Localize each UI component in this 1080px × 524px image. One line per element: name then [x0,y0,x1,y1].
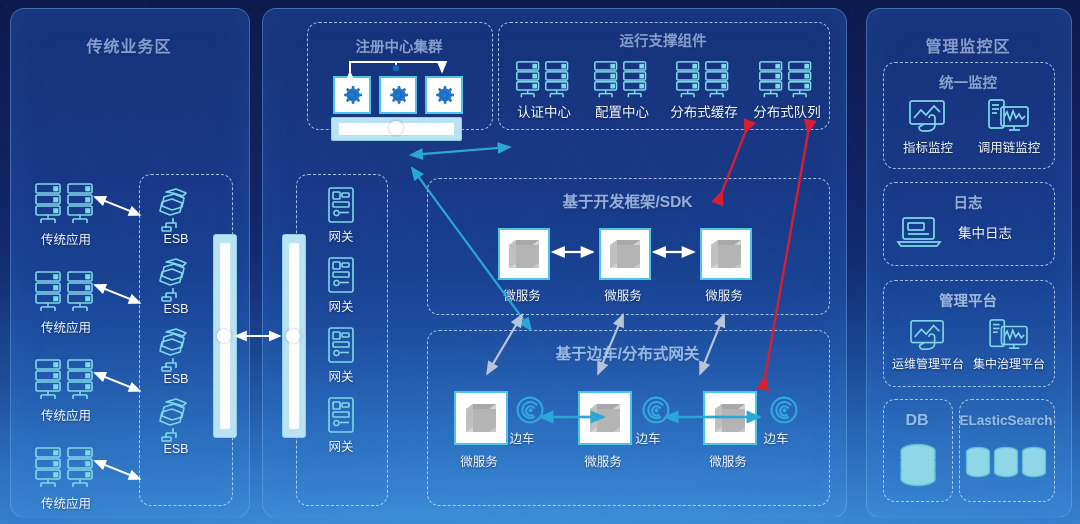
gateway-label: 网关 [312,436,370,455]
gateway-bus-connector-dot [286,329,300,343]
architecture-diagram: 传统业务区 传统应用 [0,0,1080,524]
list-item: 网关 [312,186,370,245]
list-item: 传统应用 [18,182,114,248]
platform-label: 运维管理平台 [885,355,971,372]
esb-label: ESB [145,442,207,456]
list-item: 集中日志 [896,215,1020,249]
registry-node [379,76,417,114]
gear-icon [337,80,367,110]
microservice-card [578,391,632,445]
runtime-label: 认证中心 [505,101,583,121]
microservice-card [498,228,550,280]
legacy-app-label: 传统应用 [18,229,114,248]
gateway-label: 网关 [312,296,370,315]
gateway-label: 网关 [312,366,370,385]
log-label: 集中日志 [950,222,1020,242]
esb-label: ESB [145,232,207,246]
cube-icon [608,237,642,271]
list-item: 网关 [312,396,370,455]
runtime-label: 分布式缓存 [661,101,747,121]
list-item: 传统应用 [18,446,114,512]
sidecar-swirl-icon [634,396,678,426]
trace-monitor-icon [966,98,1052,134]
legacy-app-label: 传统应用 [18,405,114,424]
list-item: 传统应用 [18,270,114,336]
sidecar-label: 边车 [626,428,670,447]
microservice-card [700,228,752,280]
gateway-icon [312,256,370,296]
gateway-icon [312,186,370,226]
esb-icon [145,186,207,232]
list-item: 分布式队列 [744,60,830,121]
database-triple-icon [965,444,1047,488]
sidecar-swirl-icon [508,396,552,426]
esb-bus-connector-dot [217,329,231,343]
list-item: ESB [145,396,207,456]
legacy-app-label: 传统应用 [18,493,114,512]
list-item: 认证中心 [505,60,583,121]
monitor-label: 指标监控 [889,137,967,156]
gear-icon [429,80,459,110]
registry-node [425,76,463,114]
laptop-log-icon [896,215,942,249]
list-item: 配置中心 [583,60,661,121]
gear-icon [383,80,413,110]
list-item: 网关 [312,256,370,315]
gateway-icon [312,396,370,436]
runtime-label: 配置中心 [583,101,661,121]
microservice-card [599,228,651,280]
server-stack-icon [18,446,114,490]
list-item: 调用链监控 [966,98,1052,156]
esb-label: ESB [145,372,207,386]
server-stack-icon [583,60,661,100]
list-item: ESB [145,256,207,316]
esb-label: ESB [145,302,207,316]
sidecar-unit: 边车 [508,396,552,447]
metric-monitor-icon [885,318,971,352]
microservice-label: 微服务 [567,451,639,470]
cube-icon [507,237,541,271]
list-item: 微服务 [599,228,671,304]
microservice-label: 微服务 [587,285,659,304]
list-item: 微服务 [498,228,570,304]
list-item: ESB [145,326,207,386]
legacy-app-label: 传统应用 [18,317,114,336]
sidecar-label: 边车 [500,428,544,447]
sidecar-label: 边车 [754,428,798,447]
metric-monitor-icon [889,98,967,134]
list-item: 网关 [312,326,370,385]
server-stack-icon [744,60,830,100]
registry-node [333,76,371,114]
gateway-icon [312,326,370,366]
trace-monitor-icon [966,318,1052,352]
server-stack-icon [18,270,114,314]
database-single-icon [897,442,939,488]
monitor-label: 调用链监控 [966,137,1052,156]
microservice-card [703,391,757,445]
server-stack-icon [661,60,747,100]
cube-icon [464,401,498,435]
list-item: 传统应用 [18,358,114,424]
esb-icon [145,396,207,442]
server-stack-icon [18,358,114,402]
sidecar-unit: 边车 [634,396,678,447]
list-item: ESB [145,186,207,246]
esb-icon [145,326,207,372]
cube-icon [713,401,747,435]
microservice-label: 微服务 [486,285,558,304]
cube-icon [709,237,743,271]
list-item: 指标监控 [889,98,967,156]
microservice-label: 微服务 [692,451,764,470]
microservice-label: 微服务 [443,451,515,470]
list-item: 分布式缓存 [661,60,747,121]
gateway-label: 网关 [312,226,370,245]
microservice-label: 微服务 [688,285,760,304]
esb-icon [145,256,207,302]
list-item: 微服务 [700,228,772,304]
runtime-label: 分布式队列 [744,101,830,121]
cube-icon [588,401,622,435]
list-item: 集中治理平台 [966,318,1052,372]
platform-label: 集中治理平台 [966,355,1052,372]
list-item: 运维管理平台 [885,318,971,372]
sidecar-unit: 边车 [762,396,806,447]
server-stack-icon [505,60,583,100]
registry-bus-dot [389,121,403,135]
server-stack-icon [18,182,114,226]
sidecar-swirl-icon [762,396,806,426]
